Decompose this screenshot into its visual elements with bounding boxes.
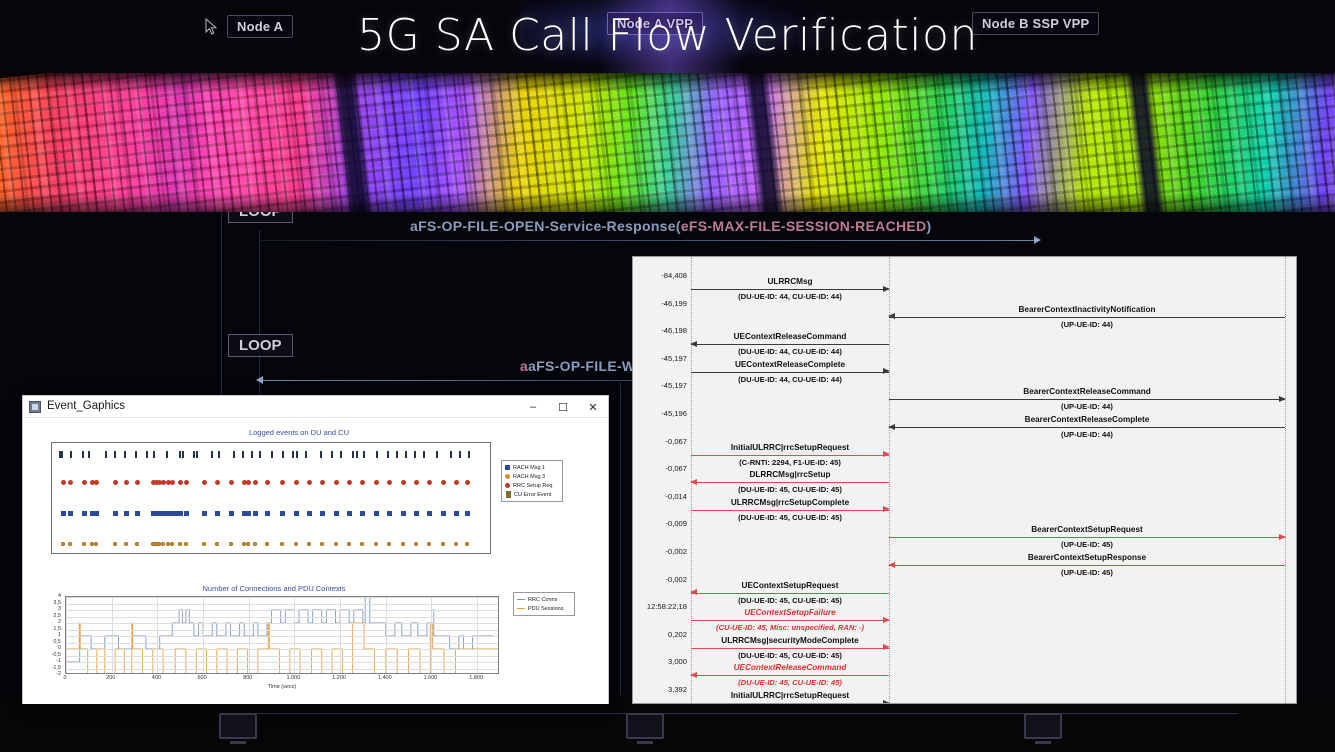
y-tick-label: 4 xyxy=(58,593,61,599)
scatter-point xyxy=(320,480,325,485)
scatter-point xyxy=(61,480,66,485)
grid-line-v xyxy=(294,597,295,673)
sequence-timestamp: -0,014 xyxy=(635,492,687,501)
grid-line-v xyxy=(157,597,158,673)
maximize-button[interactable]: ☐ xyxy=(548,396,578,418)
line-chart: Number of Connections and PDU Contexts 4… xyxy=(29,584,589,699)
scatter-point xyxy=(296,451,298,458)
scatter-point xyxy=(135,451,137,458)
sequence-timestamp: -0,067 xyxy=(635,437,687,446)
sequence-message-label: UEContextSetupFailure xyxy=(691,608,889,617)
scatter-point xyxy=(202,480,207,485)
bg-arrow-1 xyxy=(261,240,1039,241)
scatter-chart: Logged events on DU and CU RACH Msg 1 RA… xyxy=(29,428,569,572)
y-tick-label: 1,5 xyxy=(53,626,61,632)
scatter-point xyxy=(113,480,118,485)
screen-root: LOOP aFS-OP-FILE-OPEN-Service-Response(e… xyxy=(0,0,1335,752)
y-tick-label: 3,5 xyxy=(53,600,61,606)
scatter-point xyxy=(193,451,195,458)
scatter-point xyxy=(387,542,391,546)
host-icon-1 xyxy=(219,713,257,739)
sequence-timestamp: -0,067 xyxy=(635,464,687,473)
scatter-point xyxy=(423,451,425,458)
line-legend: RRC Conns PDU Sessions xyxy=(513,592,575,616)
sequence-arrowhead-icon xyxy=(1279,534,1286,540)
legend-swatch-cu-error-event xyxy=(506,491,511,498)
y-tick-label: -1 xyxy=(56,658,61,664)
bg-arrowhead-1 xyxy=(1034,236,1041,244)
scatter-point xyxy=(347,511,352,516)
scatter-point xyxy=(307,511,312,516)
scatter-point xyxy=(427,542,431,546)
window-body: Logged events on DU and CU RACH Msg 1 RA… xyxy=(23,418,608,704)
scatter-point xyxy=(251,451,253,458)
scatter-point xyxy=(94,542,98,546)
sequence-message-params: (DU-UE-ID: 44, CU-UE-ID: 44) xyxy=(691,347,889,356)
scatter-point xyxy=(161,480,166,485)
y-tick-label: 2 xyxy=(58,619,61,625)
scatter-chart-title: Logged events on DU and CU xyxy=(29,428,569,437)
sequence-message-params: (UP-UE-ID: 44) xyxy=(889,320,1285,329)
sequence-arrowhead-icon xyxy=(883,286,890,292)
scatter-point xyxy=(427,480,432,485)
sequence-timestamp: 0,202 xyxy=(635,630,687,639)
scatter-point xyxy=(436,451,438,458)
sequence-message-label: DLRRCMsg|rrcSetup xyxy=(691,470,889,479)
scatter-point xyxy=(229,542,233,546)
x-tick-label: 200 xyxy=(106,675,115,681)
sequence-message-params: (C-RNTI: 2294, F1-UE-ID: 45) xyxy=(691,458,889,467)
x-tick-label: 1.800 xyxy=(469,675,483,681)
scatter-point xyxy=(114,451,116,458)
sequence-timestamp: -46,198 xyxy=(635,326,687,335)
scatter-plot-area xyxy=(51,442,491,554)
sequence-message-params: (DU-UE-ID: 44, CU-UE-ID: 44) xyxy=(691,375,889,384)
sequence-message-params: (DU-UE-ID: 45, CU-UE-ID: 45) xyxy=(691,596,889,605)
scatter-point xyxy=(211,451,213,458)
scatter-point xyxy=(124,480,129,485)
sequence-arrowhead-icon xyxy=(888,424,895,430)
scatter-point xyxy=(215,542,219,546)
legend-swatch-rrc-conns xyxy=(517,599,525,600)
scatter-point xyxy=(280,542,284,546)
line-chart-title: Number of Connections and PDU Contexts xyxy=(49,584,499,593)
scatter-point xyxy=(215,511,220,516)
sequence-message-line xyxy=(889,317,1285,318)
sequence-arrowhead-icon xyxy=(883,644,890,650)
host-icon-3 xyxy=(1024,713,1062,739)
sequence-message-line xyxy=(889,399,1285,400)
sequence-timestamp: 3,392 xyxy=(635,685,687,694)
grid-line-h xyxy=(66,649,498,650)
y-tick-label: 0 xyxy=(58,645,61,651)
bg-message-1-highlight: eFS-MAX-FILE-SESSION-REACHED xyxy=(681,218,927,234)
sequence-message-label: BearerContextSetupResponse xyxy=(889,553,1285,562)
scatter-point xyxy=(242,451,244,458)
sequence-arrowhead-icon xyxy=(883,368,890,374)
chip-banner-shading xyxy=(0,73,1335,212)
sequence-message-label: BearerContextInactivityNotification xyxy=(889,305,1285,314)
scatter-point xyxy=(246,480,251,485)
scatter-point xyxy=(360,511,365,516)
scatter-point xyxy=(153,451,155,458)
x-tick-label: 0 xyxy=(63,675,66,681)
line-chart-y-axis: 43,532,521,510,50-0,5-1-1,5-2 xyxy=(29,590,63,680)
grid-line-v xyxy=(431,597,432,673)
scatter-point xyxy=(82,511,87,516)
legend-item-rrc-conns: RRC Conns xyxy=(517,595,571,604)
sequence-message-params: (CU-UE-ID: 45, Misc: unspecified, RAN: -… xyxy=(691,623,889,632)
sequence-message-label: InitialULRRC|rrcSetupRequest xyxy=(691,443,889,452)
scatter-point xyxy=(178,511,183,516)
legend-item-rach-msg-1: RACH Msg 1 xyxy=(505,463,559,472)
scatter-point xyxy=(401,542,405,546)
sequence-message-line xyxy=(889,427,1285,428)
app-icon xyxy=(29,401,41,413)
scatter-point xyxy=(182,451,184,458)
grid-line-h xyxy=(66,669,498,670)
scatter-point xyxy=(280,511,285,516)
sequence-message-label: InitialULRRC|rrcSetupRequest xyxy=(691,691,889,700)
scatter-point xyxy=(229,511,234,516)
grid-line-h xyxy=(66,597,498,598)
scatter-point xyxy=(124,511,129,516)
sequence-message-line xyxy=(691,455,889,456)
scatter-point xyxy=(61,542,65,546)
scatter-point xyxy=(465,511,470,516)
scatter-point xyxy=(280,480,285,485)
scatter-point xyxy=(82,542,86,546)
sequence-arrowhead-icon xyxy=(690,479,697,485)
grid-line-h xyxy=(66,656,498,657)
sequence-message-line xyxy=(691,593,889,594)
scatter-point xyxy=(184,511,189,516)
x-tick-label: 400 xyxy=(152,675,161,681)
sequence-arrowhead-icon xyxy=(888,562,895,568)
legend-item-cu-error-event: CU Error Event xyxy=(505,490,559,499)
scatter-point xyxy=(441,542,445,546)
sequence-message-label: UEContextReleaseCommand xyxy=(691,663,889,672)
x-tick-label: 1.000 xyxy=(287,675,301,681)
scatter-point xyxy=(70,451,72,458)
scatter-point xyxy=(465,480,470,485)
sequence-message-line xyxy=(889,537,1285,538)
scatter-point xyxy=(246,511,251,516)
bg-loop-label-1: LOOP xyxy=(228,212,293,223)
page-title: 5G SA Call Flow Verification xyxy=(0,8,1335,64)
scatter-point xyxy=(401,480,406,485)
scatter-point xyxy=(61,451,63,458)
scatter-point xyxy=(68,480,73,485)
scatter-point xyxy=(253,542,257,546)
grid-line-v xyxy=(386,597,387,673)
event-graphics-window[interactable]: Event_Gaphics – ☐ ✕ Logged events on DU … xyxy=(22,395,609,704)
sequence-message-line xyxy=(691,289,889,290)
sequence-message-params: (DU-UE-ID: 45, CU-UE-ID: 45) xyxy=(691,651,889,660)
scatter-point xyxy=(454,511,459,516)
scatter-point xyxy=(135,511,140,516)
scatter-point xyxy=(161,542,165,546)
scatter-point xyxy=(334,511,339,516)
scatter-point xyxy=(360,480,365,485)
scatter-point xyxy=(124,542,128,546)
bg-host-bus xyxy=(238,713,1238,714)
sequence-message-label: UEContextSetupRequest xyxy=(691,581,889,590)
scatter-point xyxy=(178,480,183,485)
grid-line-h xyxy=(66,643,498,644)
scatter-point xyxy=(334,480,339,485)
scatter-point xyxy=(376,451,378,458)
line-plot-area xyxy=(65,596,499,674)
scatter-point xyxy=(468,451,470,458)
scatter-point xyxy=(88,451,90,458)
scatter-point xyxy=(340,451,342,458)
sequence-timestamp: -45,196 xyxy=(635,409,687,418)
sequence-message-params: (DU-UE-ID: 45, CU-UE-ID: 45) xyxy=(691,485,889,494)
sequence-timestamp: -45,197 xyxy=(635,381,687,390)
scatter-point xyxy=(253,511,258,516)
grid-line-h xyxy=(66,630,498,631)
scatter-point xyxy=(271,451,273,458)
sequence-timestamp: -45,197 xyxy=(635,354,687,363)
window-titlebar[interactable]: Event_Gaphics – ☐ ✕ xyxy=(23,396,608,418)
scatter-point xyxy=(305,451,307,458)
scatter-point xyxy=(124,451,126,458)
sequence-message-line xyxy=(691,648,889,649)
scatter-point xyxy=(396,451,398,458)
sequence-message-label: ULRRCMsg|rrcSetupComplete xyxy=(691,498,889,507)
grid-line-v xyxy=(203,597,204,673)
scatter-point xyxy=(347,480,352,485)
scatter-point xyxy=(459,451,461,458)
scatter-point xyxy=(292,451,294,458)
sequence-message-line xyxy=(691,372,889,373)
sequence-timestamp: -0,009 xyxy=(635,519,687,528)
sequence-message-params: (UP-UE-ID: 44) xyxy=(889,430,1285,439)
scatter-point xyxy=(184,480,189,485)
grid-line-v xyxy=(249,597,250,673)
scatter-point xyxy=(374,511,379,516)
scatter-point xyxy=(363,451,365,458)
title-band: Node A Node A VPP Node B SSP VPP 5G SA C… xyxy=(0,0,1335,73)
scatter-point xyxy=(331,451,333,458)
grid-line-v xyxy=(340,597,341,673)
sequence-arrowhead-icon xyxy=(883,506,890,512)
scatter-point xyxy=(265,480,270,485)
grid-line-v xyxy=(477,597,478,673)
scatter-point xyxy=(282,451,284,458)
grid-line-v xyxy=(112,597,113,673)
scatter-point xyxy=(253,480,258,485)
sequence-message-label: BearerContextSetupRequest xyxy=(889,525,1285,534)
scatter-point xyxy=(374,480,379,485)
scatter-point xyxy=(68,511,73,516)
scatter-point xyxy=(465,542,469,546)
scatter-point xyxy=(387,511,392,516)
bg-message-2-highlight: a xyxy=(520,358,528,374)
grid-line-h xyxy=(66,662,498,663)
scatter-point xyxy=(307,542,311,546)
sequence-timestamp: -46,199 xyxy=(635,299,687,308)
scatter-legend: RACH Msg 1 RACH Msg 3 RRC Setup Req CU E… xyxy=(501,460,563,502)
sequence-timestamp: -0,002 xyxy=(635,547,687,556)
scatter-point xyxy=(352,451,354,458)
sequence-arrowhead-icon xyxy=(690,672,697,678)
scatter-point xyxy=(320,542,324,546)
scatter-point xyxy=(170,542,174,546)
legend-swatch-pdu-sessions xyxy=(517,608,525,609)
scatter-point xyxy=(307,480,312,485)
bg-arrowhead-2 xyxy=(256,376,263,384)
grid-line-h xyxy=(66,604,498,605)
sequence-message-params: (UP-UE-ID: 45) xyxy=(889,568,1285,577)
sequence-timestamp: 3,000 xyxy=(635,657,687,666)
sequence-message-line xyxy=(691,675,889,676)
sequence-arrowhead-icon xyxy=(888,313,895,319)
scatter-point xyxy=(265,542,269,546)
sequence-message-line xyxy=(691,620,889,621)
scatter-point xyxy=(113,542,117,546)
scatter-point xyxy=(401,511,406,516)
scatter-point xyxy=(61,511,66,516)
sequence-arrowhead-icon xyxy=(883,617,890,623)
scatter-point xyxy=(184,542,188,546)
legend-swatch-rrc-setup-req xyxy=(505,483,510,488)
chip-die-banner-image xyxy=(0,73,1335,212)
sequence-arrowhead-icon xyxy=(883,700,890,705)
scatter-point xyxy=(178,542,182,546)
scatter-point xyxy=(347,542,351,546)
sequence-message-params: (DU-UE-ID: 45, CU-UE-ID: 45) xyxy=(691,513,889,522)
scatter-point xyxy=(320,451,322,458)
scatter-point xyxy=(94,480,99,485)
sequence-message-params: (DU-UE-ID: 44, CU-UE-ID: 44) xyxy=(691,292,889,301)
y-tick-label: 2,5 xyxy=(53,613,61,619)
bg-loop-label-2: LOOP xyxy=(228,334,293,357)
scatter-point xyxy=(113,511,118,516)
scatter-point xyxy=(441,511,446,516)
grid-line-h xyxy=(66,610,498,611)
scatter-point xyxy=(387,451,389,458)
window-title: Event_Gaphics xyxy=(47,400,125,412)
scatter-point xyxy=(454,480,459,485)
scatter-point xyxy=(414,542,418,546)
sequence-message-line xyxy=(691,344,889,345)
sequence-message-label: BearerContextReleaseCommand xyxy=(889,387,1285,396)
scatter-point xyxy=(334,542,338,546)
scatter-point xyxy=(320,511,325,516)
sequence-message-label: ULRRCMsg xyxy=(691,277,889,286)
y-tick-label: -1,5 xyxy=(52,665,61,671)
scatter-point xyxy=(259,451,261,458)
legend-swatch-rach-msg-3 xyxy=(505,474,510,479)
sequence-message-label: UEContextReleaseCommand xyxy=(691,332,889,341)
sequence-message-line xyxy=(889,565,1285,566)
sequence-message-label: ULRRCMsg|securityModeComplete xyxy=(691,636,889,645)
close-button[interactable]: ✕ xyxy=(578,396,608,418)
host-icon-2 xyxy=(626,713,664,739)
scatter-point xyxy=(427,511,432,516)
scatter-point xyxy=(454,542,458,546)
y-tick-label: 3 xyxy=(58,606,61,612)
scatter-point xyxy=(405,451,407,458)
grid-line-h xyxy=(66,623,498,624)
scatter-point xyxy=(202,542,206,546)
scatter-point xyxy=(68,542,72,546)
scatter-point xyxy=(218,451,220,458)
sequence-arrowhead-icon xyxy=(1279,396,1286,402)
minimize-button[interactable]: – xyxy=(518,396,548,418)
sequence-timestamp: -84,408 xyxy=(635,271,687,280)
sequence-arrowhead-icon xyxy=(690,341,697,347)
scatter-point xyxy=(215,480,220,485)
scatter-point xyxy=(82,451,84,458)
scatter-point xyxy=(360,542,364,546)
x-tick-label: 1.400 xyxy=(378,675,392,681)
scatter-point xyxy=(450,451,452,458)
y-tick-label: 0,5 xyxy=(53,639,61,645)
scatter-point xyxy=(229,480,234,485)
x-tick-label: 1.200 xyxy=(332,675,346,681)
scatter-point xyxy=(135,480,140,485)
scatter-point xyxy=(414,511,419,516)
sequence-arrowhead-icon xyxy=(883,451,890,457)
grid-line-h xyxy=(66,617,498,618)
scatter-point xyxy=(170,480,175,485)
sequence-message-label: BearerContextReleaseComplete xyxy=(889,415,1285,424)
y-tick-label: -0,5 xyxy=(52,652,61,658)
legend-item-rach-msg-3: RACH Msg 3 xyxy=(505,472,559,481)
sequence-message-line xyxy=(691,510,889,511)
x-tick-label: 1.600 xyxy=(424,675,438,681)
scatter-point xyxy=(166,451,168,458)
legend-swatch-rach-msg-1 xyxy=(505,465,510,470)
scatter-point xyxy=(94,511,99,516)
grid-line-h xyxy=(66,636,498,637)
scatter-point xyxy=(196,451,198,458)
sequence-message-line xyxy=(691,482,889,483)
sequence-message-params: (DU-UE-ID: 45, CU-UE-ID: 45) xyxy=(691,678,889,687)
scatter-point xyxy=(294,511,299,516)
x-tick-label: 800 xyxy=(243,675,252,681)
legend-item-rrc-setup-req: RRC Setup Req xyxy=(505,481,559,490)
grid-line-v xyxy=(66,597,67,673)
bg-message-1: aFS-OP-FILE-OPEN-Service-Response(eFS-MA… xyxy=(410,218,931,234)
y-tick-label: 1 xyxy=(58,632,61,638)
sequence-arrowhead-icon xyxy=(690,589,697,595)
scatter-point xyxy=(356,451,358,458)
scatter-point xyxy=(387,480,392,485)
legend-item-pdu-sessions: PDU Sessions xyxy=(517,604,571,613)
scatter-point xyxy=(294,542,298,546)
scatter-point xyxy=(82,480,87,485)
scatter-point xyxy=(202,511,207,516)
sequence-message-params: (UP-UE-ID: 44) xyxy=(889,402,1285,411)
scatter-point xyxy=(135,542,139,546)
sequence-timestamp: -0,002 xyxy=(635,575,687,584)
scatter-point xyxy=(414,451,416,458)
scatter-point xyxy=(294,480,299,485)
scatter-point xyxy=(179,451,181,458)
sequence-timestamp: 12:58:22,18 xyxy=(635,602,687,611)
scatter-point xyxy=(441,480,446,485)
sequence-diagram-panel[interactable]: -84,408ULRRCMsg(DU-UE-ID: 44, CU-UE-ID: … xyxy=(632,256,1297,704)
x-tick-label: 600 xyxy=(197,675,206,681)
scatter-point xyxy=(233,451,235,458)
bg-lifeline-mid xyxy=(620,382,621,712)
line-chart-x-title: Time (secs) xyxy=(65,684,499,690)
sequence-message-line xyxy=(691,703,889,704)
